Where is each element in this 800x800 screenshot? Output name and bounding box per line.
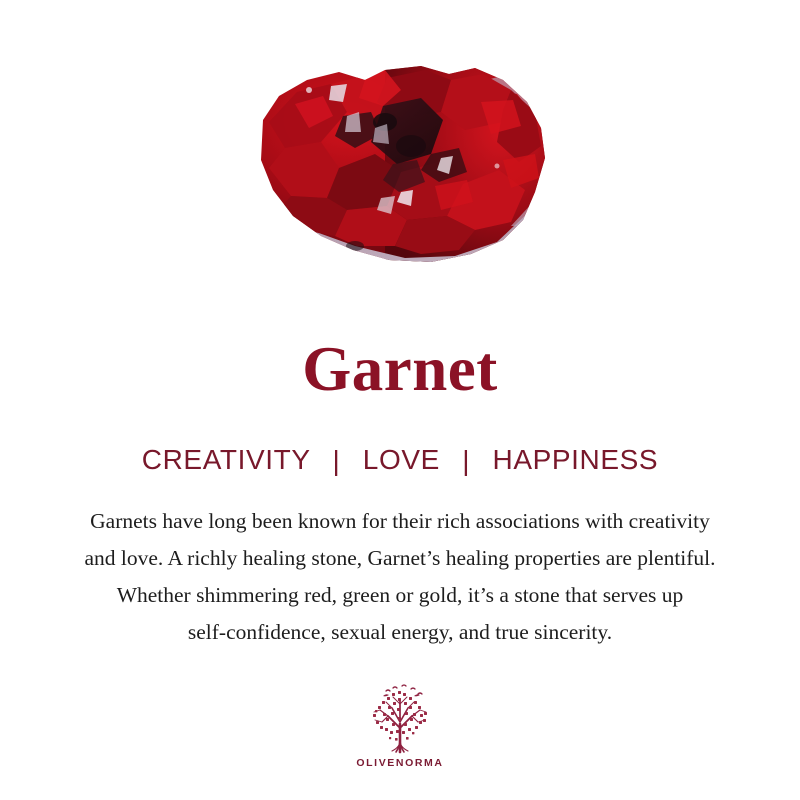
tree-bird-solid	[383, 694, 420, 696]
garnet-stone-image	[0, 40, 800, 290]
keyword-list: CREATIVITY | LOVE | HAPPINESS	[0, 443, 800, 477]
garnet-crystal-illustration	[235, 50, 565, 280]
tree-birds	[386, 685, 422, 694]
page-title: Garnet	[0, 334, 800, 404]
description-paragraph: Garnets have long been known for their r…	[26, 503, 774, 651]
stone-body	[235, 50, 565, 280]
description-line: Garnets have long been known for their r…	[26, 503, 774, 540]
description-line: and love. A richly healing stone, Garnet…	[26, 540, 774, 577]
keyword-love: LOVE	[363, 444, 440, 475]
keyword-happiness: HAPPINESS	[493, 444, 659, 475]
brand-wordmark: OLIVENORMA	[356, 757, 443, 769]
poster-canvas: Garnet CREATIVITY | LOVE | HAPPINESS Gar…	[0, 0, 800, 800]
keyword-separator: |	[448, 444, 484, 478]
keyword-separator: |	[319, 444, 355, 478]
brand-logo[interactable]: OLIVENORMA	[0, 684, 800, 769]
description-line: self-confidence, sexual energy, and true…	[26, 614, 774, 651]
keyword-creativity: CREATIVITY	[142, 444, 310, 475]
description-line: Whether shimmering red, green or gold, i…	[26, 577, 774, 614]
tree-of-life-icon	[362, 684, 438, 754]
